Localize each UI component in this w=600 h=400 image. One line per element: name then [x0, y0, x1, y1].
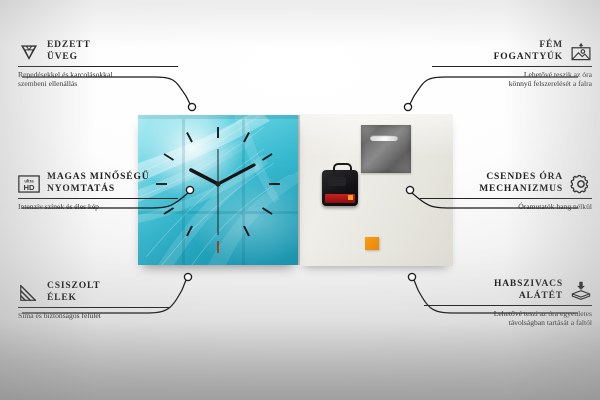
- callout-rule: [424, 305, 592, 306]
- callout-desc: Óramutatók hang nélkül: [420, 202, 592, 212]
- callout-desc: Lehetővé teszi az óra egyenletes távolsá…: [424, 309, 592, 328]
- callout-title: EDZETT ÜVEG: [47, 40, 91, 63]
- diamond-icon: [18, 41, 40, 63]
- gear-icon: [570, 173, 592, 195]
- clock-center-cap: [215, 181, 220, 186]
- callout-tempered-glass: EDZETT ÜVEG Repedésekkel és karcolásokka…: [18, 40, 178, 89]
- hour-hand: [191, 170, 218, 184]
- callout-foam-pad: HABSZIVACS ALÁTÉT Lehetővé teszi az óra …: [424, 279, 592, 328]
- callout-desc: Sima és biztonságos felület: [18, 311, 170, 321]
- clock-mechanism: [322, 170, 358, 206]
- callout-rule: [432, 66, 592, 67]
- callout-rule: [18, 198, 178, 199]
- callout-polished-edges: CSISZOLT ÉLEK Sima és biztonságos felüle…: [18, 281, 170, 320]
- ultra-hd-icon: ultra HD: [18, 173, 40, 195]
- foam-pad-icon: [570, 280, 592, 302]
- callout-desc: Intenzív színek és éles kép: [18, 202, 178, 212]
- svg-text:HD: HD: [24, 182, 35, 191]
- battery: [325, 194, 355, 203]
- product-image: [138, 114, 453, 266]
- infographic-canvas: EDZETT ÜVEG Repedésekkel és karcolásokka…: [0, 0, 600, 400]
- callout-rule: [18, 307, 170, 308]
- foam-pad: [365, 237, 379, 250]
- polished-edge-icon: [18, 282, 40, 304]
- hanger-slot: [370, 135, 398, 141]
- marker-edge: [184, 273, 191, 280]
- callout-silent-mechanism: CSENDES ÓRA MECHANIZMUS Óramutatók hang …: [420, 172, 592, 211]
- callout-title: HABSZIVACS ALÁTÉT: [494, 279, 563, 302]
- callout-desc: Lehetővé teszik az óra könnyű felszerelé…: [432, 70, 592, 89]
- marker-glass: [188, 103, 195, 110]
- callout-rule: [420, 198, 592, 199]
- callout-title: MAGAS MINŐSÉGŰ NYOMTATÁS: [47, 172, 149, 195]
- callout-rule: [18, 66, 178, 67]
- callout-title: CSISZOLT ÉLEK: [47, 281, 100, 304]
- marker-metal: [404, 103, 411, 110]
- marker-foam: [408, 273, 415, 280]
- callout-title: CSENDES ÓRA MECHANIZMUS: [479, 172, 563, 195]
- callout-metal-handles: FÉM FOGANTYÚK Lehetővé teszik az óra kön…: [432, 40, 592, 89]
- callout-title: FÉM FOGANTYÚK: [494, 40, 563, 63]
- mechanism-knob: [328, 177, 346, 186]
- picture-hanger-icon: [570, 41, 592, 63]
- mechanism-hook: [333, 163, 352, 174]
- callout-desc: Repedésekkel és karcolásokkal szembeni e…: [18, 70, 178, 89]
- metal-hanger-plate: [361, 125, 411, 173]
- callout-high-quality-print: ultra HD MAGAS MINŐSÉGŰ NYOMTATÁS Intenz…: [18, 172, 178, 211]
